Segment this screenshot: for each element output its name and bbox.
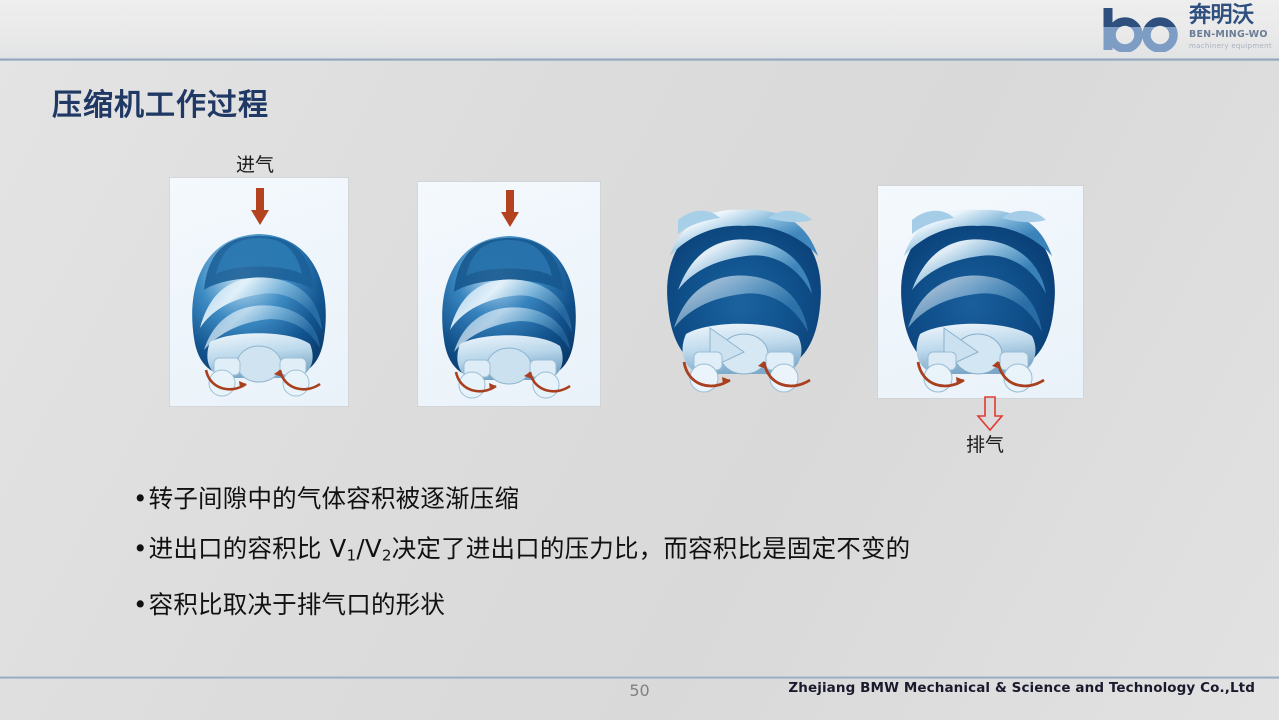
bullet-text-2-sub1: 1 [347,546,357,564]
header-divider [0,58,1279,61]
screw-rotor-illustration-3 [648,186,840,398]
bullet-text-2-prefix: 进出口的容积比 V [149,534,347,563]
exhaust-arrow-icon [975,396,1005,432]
bullet-text-2-sub2: 2 [382,546,392,564]
bullet-marker-3: • [133,590,148,619]
bullet-marker-1: • [133,484,148,513]
bullet-list: •转子间隙中的气体容积被逐渐压缩 •进出口的容积比 V1/V2决定了进出口的压力… [133,474,1133,630]
logo-chinese-name: 奔明沃 [1189,3,1273,29]
figure-frame-3 [648,186,840,398]
header-band [0,0,1279,58]
slide-canvas: 奔明沃 BEN-MING-WO machinery equipment 压缩机工… [0,0,1279,720]
company-logo: 奔明沃 BEN-MING-WO machinery equipment [1097,1,1273,57]
bullet-text-2-suffix: 决定了进出口的压力比，而容积比是固定不变的 [392,534,911,563]
bullet-marker-2: • [133,534,148,563]
figure-frame-4 [878,186,1083,398]
rotor-figure-strip [160,150,1100,470]
bullet-item-3: •容积比取决于排气口的形状 [133,580,1133,630]
bullet-item-2: •进出口的容积比 V1/V2决定了进出口的压力比，而容积比是固定不变的 [133,524,1133,580]
bullet-text-2-mid: /V [356,534,381,563]
logo-wordmark: 奔明沃 BEN-MING-WO machinery equipment [1189,3,1273,55]
screw-rotor-illustration-4 [878,186,1083,398]
bo-monogram-icon [1101,6,1187,52]
logo-tagline: machinery equipment [1189,41,1273,51]
exhaust-label: 排气 [966,430,1004,457]
footer-company-name: Zhejiang BMW Mechanical & Science and Te… [788,680,1255,696]
intake-arrow-icon-1 [250,188,270,226]
intake-arrow-icon-2 [500,190,520,228]
bullet-item-1: •转子间隙中的气体容积被逐渐压缩 [133,474,1133,524]
logo-latin-name: BEN-MING-WO [1189,29,1273,41]
bullet-text-1: 转子间隙中的气体容积被逐渐压缩 [149,484,520,513]
bullet-text-3: 容积比取决于排气口的形状 [149,590,445,619]
footer-divider [0,676,1279,679]
page-title: 压缩机工作过程 [52,80,269,124]
